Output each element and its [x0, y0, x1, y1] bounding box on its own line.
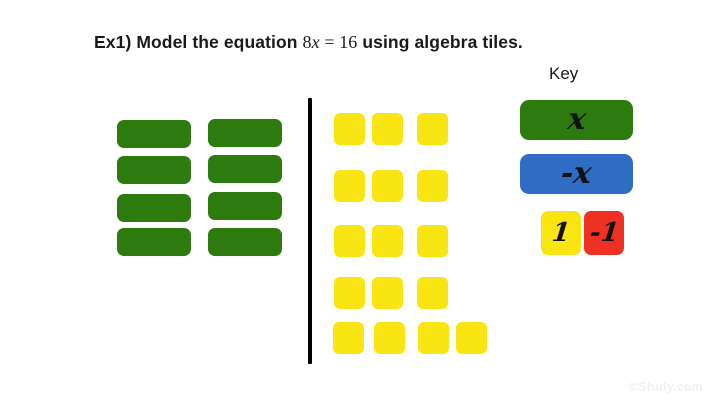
equation-variable: x: [312, 32, 320, 52]
unit-tile-11: [372, 277, 403, 309]
equals-divider: [308, 98, 312, 364]
key-negative-one-glyph: -1: [588, 220, 620, 246]
title-prefix: Ex1) Model the equation: [94, 32, 303, 52]
x-tile-3: [117, 156, 191, 184]
equation-relation: =: [320, 32, 339, 52]
key-x-tile: x: [520, 100, 633, 140]
key-negative-x-glyph: -x: [560, 159, 593, 189]
study-watermark: ©Study.com: [629, 380, 703, 394]
x-tile-2: [208, 119, 282, 147]
key-negative-one-tile: -1: [584, 211, 624, 255]
equation-coefficient: 8: [303, 32, 312, 52]
unit-tile-8: [372, 225, 403, 257]
unit-tile-14: [374, 322, 405, 354]
unit-tile-1: [334, 113, 365, 145]
slide-canvas: Ex1) Model the equation 8x = 16 using al…: [0, 0, 715, 402]
unit-tile-16: [456, 322, 487, 354]
unit-tile-2: [372, 113, 403, 145]
x-tile-4: [208, 155, 282, 183]
key-heading: Key: [549, 64, 578, 84]
unit-tile-3: [417, 113, 448, 145]
x-tile-8: [208, 228, 282, 256]
x-tile-1: [117, 120, 191, 148]
unit-tile-9: [417, 225, 448, 257]
unit-tile-5: [372, 170, 403, 202]
page-title: Ex1) Model the equation 8x = 16 using al…: [94, 32, 523, 53]
unit-tile-12: [417, 277, 448, 309]
equation-right-value: 16: [339, 32, 357, 52]
title-suffix: using algebra tiles.: [357, 32, 522, 52]
key-one-tile: 1: [541, 211, 581, 255]
x-tile-6: [208, 192, 282, 220]
key-one-glyph: 1: [551, 220, 572, 246]
unit-tile-13: [333, 322, 364, 354]
key-negative-x-tile: -x: [520, 154, 633, 194]
x-tile-5: [117, 194, 191, 222]
title-equation: 8x = 16: [303, 32, 358, 52]
unit-tile-15: [418, 322, 449, 354]
key-x-glyph: x: [566, 105, 587, 135]
unit-tile-4: [334, 170, 365, 202]
unit-tile-7: [334, 225, 365, 257]
unit-tile-10: [334, 277, 365, 309]
x-tile-7: [117, 228, 191, 256]
unit-tile-6: [417, 170, 448, 202]
